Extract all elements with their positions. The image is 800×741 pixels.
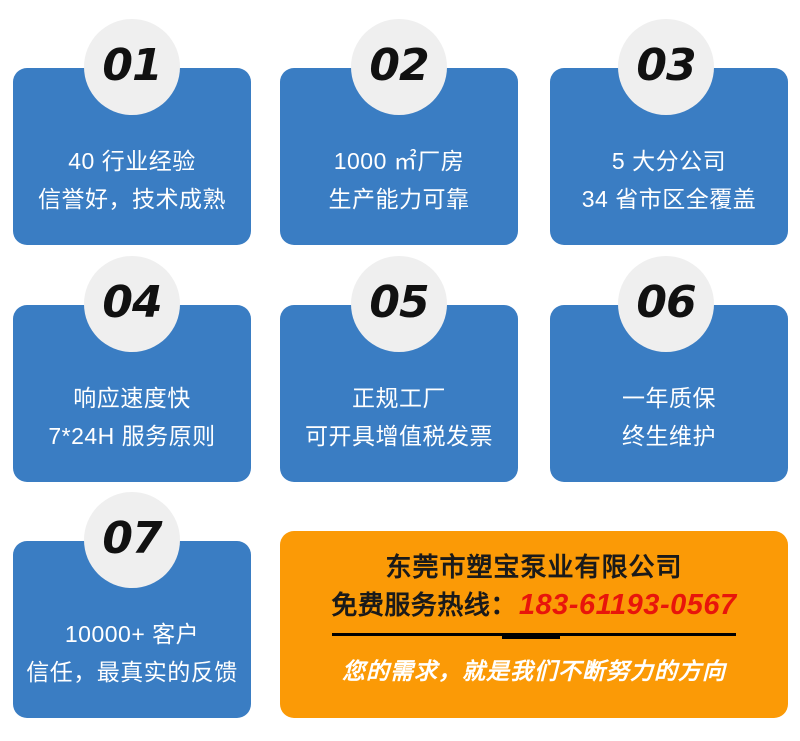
feature-card-04-line1: 响应速度快: [73, 379, 191, 417]
divider-thick-accent: [502, 633, 560, 639]
feature-card-05-line2: 可开具增值税发票: [305, 417, 493, 455]
number-badge-07-value: 07: [102, 517, 161, 561]
number-badge-02: 02: [351, 19, 447, 115]
company-slogan: 您的需求，就是我们不断努力的方向: [342, 652, 726, 686]
number-badge-03: 03: [618, 19, 714, 115]
feature-card-02-line2: 生产能力可靠: [329, 180, 470, 218]
feature-card-01-line1: 40 行业经验: [68, 142, 195, 180]
number-badge-02-value: 02: [369, 44, 428, 88]
hotline-number[interactable]: 183-61193-0567: [519, 586, 737, 624]
feature-card-02-line1: 1000 ㎡厂房: [334, 142, 465, 180]
feature-card-01-body: 40 行业经验 信誉好，技术成熟: [13, 120, 251, 245]
feature-card-02-body: 1000 ㎡厂房 生产能力可靠: [280, 120, 518, 245]
number-badge-05-value: 05: [369, 281, 428, 325]
advantages-board: 40 行业经验 信誉好，技术成熟 01 1000 ㎡厂房 生产能力可靠 02 5…: [0, 0, 800, 741]
number-badge-03-value: 03: [636, 44, 695, 88]
feature-card-04-line2: 7*24H 服务原则: [48, 417, 215, 455]
number-badge-05: 05: [351, 256, 447, 352]
number-badge-06-value: 06: [636, 281, 695, 325]
feature-card-07-body: 10000+ 客户 信任，最真实的反馈: [13, 593, 251, 718]
feature-card-06-line2: 终生维护: [622, 417, 716, 455]
feature-card-06-line1: 一年质保: [622, 379, 716, 417]
divider: [332, 631, 736, 639]
feature-card-05-line1: 正规工厂: [352, 379, 446, 417]
hotline-row: 免费服务热线： 183-61193-0567: [331, 586, 736, 624]
feature-card-04-body: 响应速度快 7*24H 服务原则: [13, 357, 251, 482]
number-badge-04: 04: [84, 256, 180, 352]
company-name: 东莞市塑宝泵业有限公司: [385, 549, 682, 585]
feature-card-06-body: 一年质保 终生维护: [550, 357, 788, 482]
number-badge-01: 01: [84, 19, 180, 115]
number-badge-07: 07: [84, 492, 180, 588]
feature-card-07-line1: 10000+ 客户: [65, 615, 199, 653]
number-badge-06: 06: [618, 256, 714, 352]
feature-card-07-line2: 信任，最真实的反馈: [26, 653, 238, 691]
hotline-label: 免费服务热线：: [331, 586, 517, 624]
number-badge-04-value: 04: [102, 281, 161, 325]
feature-card-03-body: 5 大分公司 34 省市区全覆盖: [550, 120, 788, 245]
number-badge-01-value: 01: [102, 44, 161, 88]
feature-card-03-line2: 34 省市区全覆盖: [582, 180, 756, 218]
contact-panel: 东莞市塑宝泵业有限公司 免费服务热线： 183-61193-0567 您的需求，…: [280, 531, 788, 718]
feature-card-01-line2: 信誉好，技术成熟: [38, 180, 226, 218]
feature-card-03-line1: 5 大分公司: [612, 142, 726, 180]
feature-card-05-body: 正规工厂 可开具增值税发票: [280, 357, 518, 482]
